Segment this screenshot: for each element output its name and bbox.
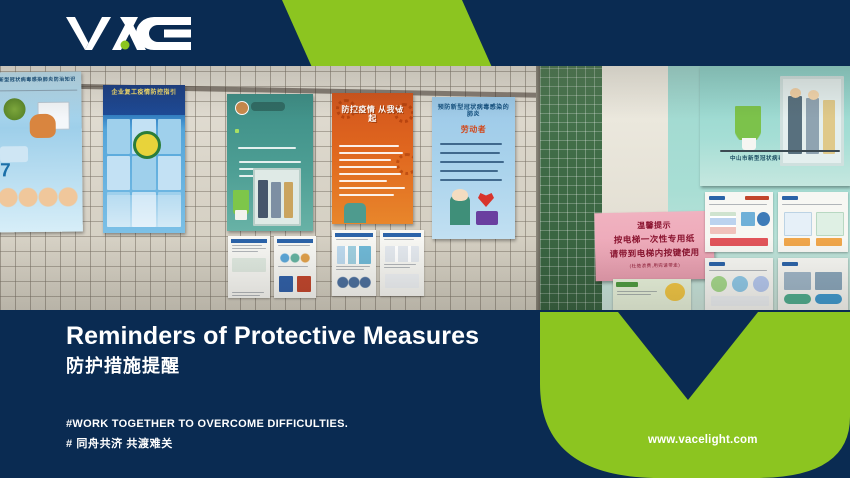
hashtag-cn: # 同舟共济 共渡难关 <box>66 435 173 451</box>
vace-logo[interactable] <box>66 14 191 54</box>
website-url[interactable]: www.vacelight.com <box>648 434 758 446</box>
slide-canvas: 新型冠状病毒感染肺炎防治知识 7 企业复工疫情防控指引 <box>0 0 850 478</box>
page-title-en: Reminders of Protective Measures <box>66 322 479 351</box>
hashtag-en: #WORK TOGETHER TO OVERCOME DIFFICULTIES. <box>66 418 348 430</box>
page-title-cn: 防护措施提醒 <box>66 352 180 378</box>
header-green-accent <box>282 0 491 66</box>
logo-dot-icon <box>121 41 130 50</box>
wall-photograph: 新型冠状病毒感染肺炎防治知识 7 企业复工疫情防控指引 <box>0 64 850 312</box>
photo-vignette <box>0 64 850 312</box>
brand-v-shape <box>540 312 850 478</box>
